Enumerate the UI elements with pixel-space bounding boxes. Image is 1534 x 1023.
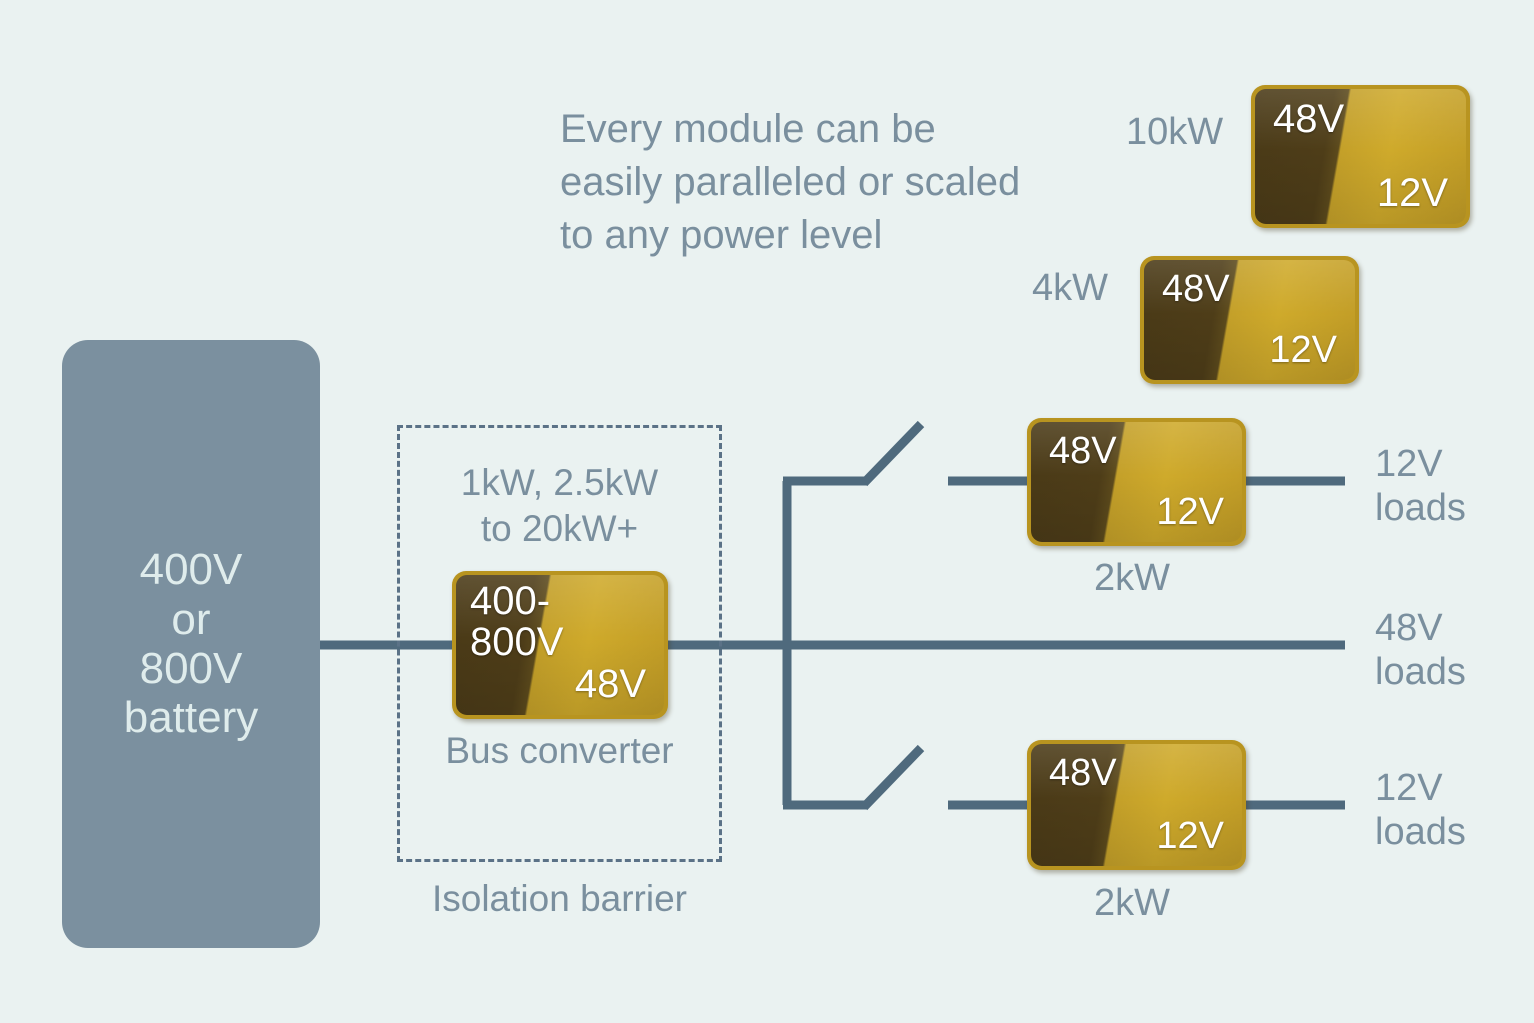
- module-2kw-top-input-label: 48V: [1049, 430, 1117, 473]
- module-10kw-face: 48V 12V: [1255, 89, 1466, 224]
- module-4kw-output-label: 12V: [1269, 329, 1337, 372]
- module-2kw-top-output-label: 12V: [1156, 491, 1224, 534]
- load-12v-bottom-label: 12V loads: [1375, 767, 1466, 854]
- bus-converter-input-label: 400- 800V: [470, 581, 563, 663]
- battery-block: 400V or 800V battery: [62, 340, 320, 948]
- module-4kw-input-label: 48V: [1162, 268, 1230, 311]
- scaling-caption: Every module can be easily paralleled or…: [560, 103, 1020, 263]
- diagram-canvas: 400V or 800V battery 1kW, 2.5kW to 20kW+…: [0, 0, 1534, 1023]
- module-2kw-top[interactable]: 48V 12V: [1027, 418, 1246, 546]
- load-12v-top-label: 12V loads: [1375, 443, 1466, 530]
- module-4kw[interactable]: 48V 12V: [1140, 256, 1359, 384]
- module-2kw-top-power-label: 2kW: [1094, 557, 1170, 600]
- bus-converter-face: 400- 800V 48V: [456, 575, 664, 715]
- module-10kw-input-label: 48V: [1273, 97, 1344, 142]
- module-2kw-top-face: 48V 12V: [1031, 422, 1242, 542]
- module-2kw-bottom[interactable]: 48V 12V: [1027, 740, 1246, 870]
- module-10kw[interactable]: 48V 12V: [1251, 85, 1470, 228]
- load-48v-label: 48V loads: [1375, 607, 1466, 694]
- converter-power-range: 1kW, 2.5kW to 20kW+: [397, 460, 722, 553]
- bus-converter-caption: Bus converter: [397, 730, 722, 772]
- module-4kw-face: 48V 12V: [1144, 260, 1355, 380]
- module-2kw-bottom-output-label: 12V: [1156, 815, 1224, 858]
- wire-lower-switch-arm: [864, 748, 921, 807]
- module-2kw-bottom-input-label: 48V: [1049, 752, 1117, 795]
- module-2kw-bottom-power-label: 2kW: [1094, 882, 1170, 925]
- module-2kw-bottom-face: 48V 12V: [1031, 744, 1242, 866]
- wire-upper-switch-arm: [864, 424, 921, 483]
- battery-label: 400V or 800V battery: [124, 545, 259, 742]
- module-4kw-power-label: 4kW: [1032, 267, 1108, 310]
- bus-converter-module[interactable]: 400- 800V 48V: [452, 571, 668, 719]
- bus-converter-output-label: 48V: [575, 662, 646, 707]
- module-10kw-output-label: 12V: [1377, 171, 1448, 216]
- isolation-barrier-label: Isolation barrier: [397, 878, 722, 920]
- module-10kw-power-label: 10kW: [1126, 111, 1223, 154]
